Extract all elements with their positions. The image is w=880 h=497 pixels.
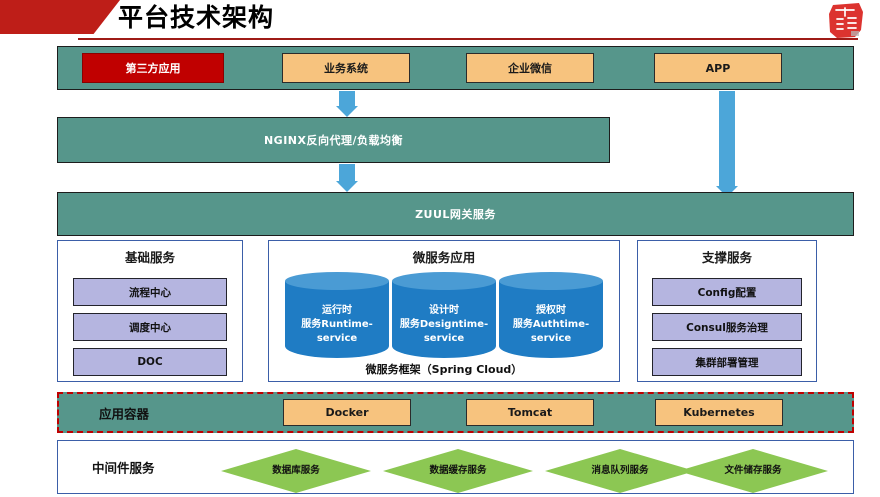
chip-label: Kubernetes	[683, 406, 754, 419]
middleware-diamond-cache[interactable]: 数据缓存服务	[383, 449, 533, 493]
middleware-diamond-database[interactable]: 数据库服务	[221, 449, 371, 493]
diamond-label: 消息队列服务	[571, 465, 669, 477]
nginx-layer-band: NGINX反向代理/负载均衡	[57, 117, 610, 163]
microservice-framework-label: 微服务框架（Spring Cloud）	[269, 361, 619, 377]
basic-service-item-schedule-center[interactable]: 调度中心	[73, 313, 227, 341]
panel-title-microservice-apps: 微服务应用	[269, 247, 619, 266]
app-chip-label: 第三方应用	[126, 60, 181, 76]
cylinder-runtime-service[interactable]: 运行时 服务Runtime- service	[285, 272, 389, 358]
cylinder-label: 授权时 服务Authtime- service	[501, 304, 601, 346]
chip-label: Tomcat	[508, 406, 552, 419]
page-header: 平台技术架构	[0, 0, 880, 40]
app-container-label: 应用容器	[99, 403, 149, 422]
arrow-apps-to-zuul	[710, 91, 744, 197]
header-divider-rule	[78, 38, 858, 40]
panel-title-support-services: 支撑服务	[638, 247, 816, 266]
zuul-label: ZUUL网关服务	[415, 206, 496, 222]
arrow-apps-to-nginx	[330, 91, 364, 117]
cylinder-top	[499, 272, 603, 290]
cylinder-authtime-service[interactable]: 授权时 服务Authtime- service	[499, 272, 603, 358]
basic-service-item-process-center[interactable]: 流程中心	[73, 278, 227, 306]
nginx-label: NGINX反向代理/负载均衡	[264, 132, 403, 148]
app-chip-wecom[interactable]: 企业微信	[466, 53, 594, 83]
cylinder-label: 设计时 服务Designtime- service	[394, 304, 494, 346]
cylinder-top	[392, 272, 496, 290]
container-chip-kubernetes[interactable]: Kubernetes	[655, 399, 783, 426]
arrow-nginx-to-zuul	[330, 164, 364, 192]
support-service-item-cluster-deploy[interactable]: 集群部署管理	[652, 348, 802, 376]
item-label: Consul服务治理	[686, 320, 768, 335]
item-label: DOC	[137, 356, 162, 368]
middleware-label: 中间件服务	[92, 458, 155, 477]
app-chip-label: APP	[706, 62, 731, 75]
item-label: 流程中心	[129, 285, 171, 300]
middleware-diamond-message-queue[interactable]: 消息队列服务	[545, 449, 695, 493]
item-label: 调度中心	[129, 320, 171, 335]
cylinder-designtime-service[interactable]: 设计时 服务Designtime- service	[392, 272, 496, 358]
cylinder-top	[285, 272, 389, 290]
diamond-label: 数据库服务	[247, 465, 345, 477]
app-chip-label: 业务系统	[324, 60, 368, 76]
app-chip-app[interactable]: APP	[654, 53, 782, 83]
tianhu-seal-logo	[824, 1, 868, 41]
item-label: Config配置	[698, 285, 757, 300]
zuul-gateway-band: ZUUL网关服务	[57, 192, 854, 236]
container-chip-tomcat[interactable]: Tomcat	[466, 399, 594, 426]
cylinder-label: 运行时 服务Runtime- service	[287, 304, 387, 346]
panel-title-basic-services: 基础服务	[58, 247, 242, 266]
support-service-item-config[interactable]: Config配置	[652, 278, 802, 306]
container-chip-docker[interactable]: Docker	[283, 399, 411, 426]
diamond-label: 文件储存服务	[704, 465, 802, 477]
middleware-row: 中间件服务 数据库服务 数据缓存服务 消息队列服务 文件储存服务	[57, 440, 854, 494]
diamond-label: 数据缓存服务	[409, 465, 507, 477]
app-chip-third-party[interactable]: 第三方应用	[82, 53, 224, 83]
page-title: 平台技术架构	[118, 0, 274, 34]
app-chip-business-system[interactable]: 业务系统	[282, 53, 410, 83]
item-label: 集群部署管理	[696, 355, 759, 370]
header-red-banner	[0, 0, 120, 34]
support-service-item-consul[interactable]: Consul服务治理	[652, 313, 802, 341]
basic-service-item-doc[interactable]: DOC	[73, 348, 227, 376]
app-chip-label: 企业微信	[508, 60, 552, 76]
middleware-diamond-file-storage[interactable]: 文件储存服务	[678, 449, 828, 493]
chip-label: Docker	[325, 406, 368, 419]
